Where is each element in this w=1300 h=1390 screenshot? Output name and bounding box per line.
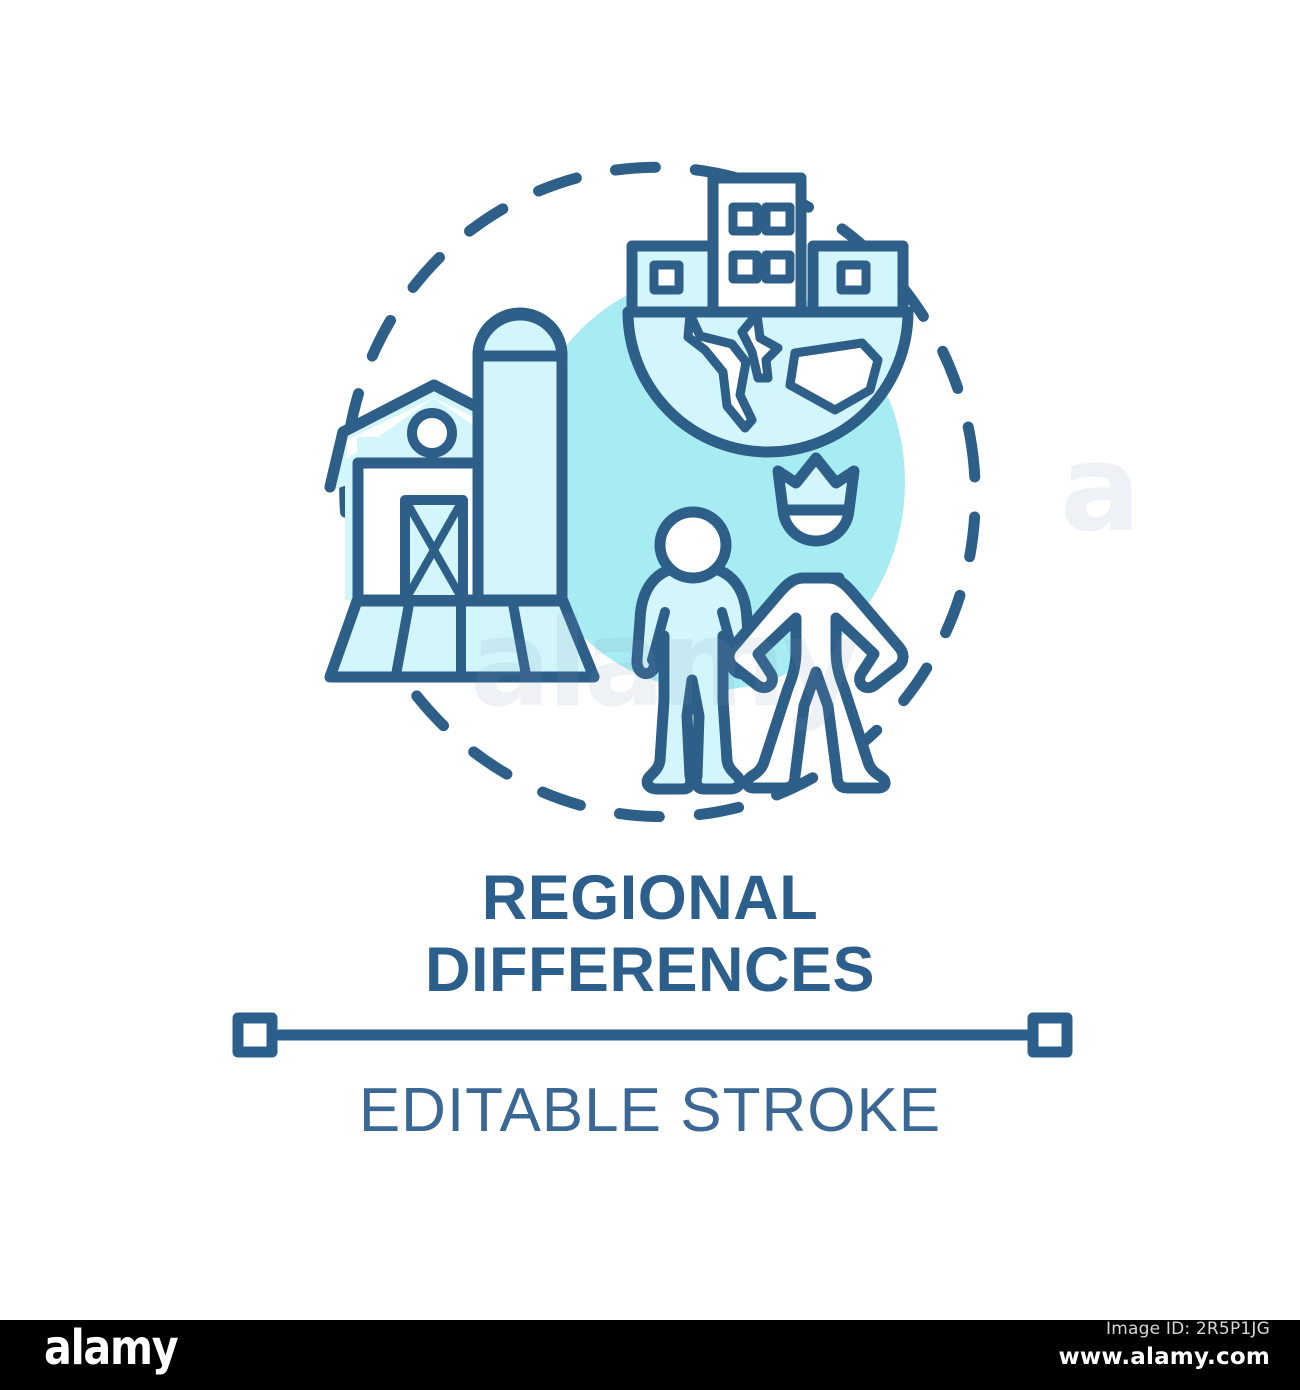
barn-round-window xyxy=(412,413,452,453)
alamy-url[interactable]: www.alamy.com xyxy=(1058,1344,1270,1370)
screenshot-canvas: alamy a REGIONAL DIFFERENCES EDITABLE ST… xyxy=(0,0,1300,1390)
person-casual-head xyxy=(660,512,726,578)
barn-group xyxy=(330,313,594,677)
divider-endpoint-left xyxy=(238,1018,272,1052)
building-center-window-2 xyxy=(766,207,790,231)
building-center-window-3 xyxy=(733,255,757,279)
image-id-label: Image ID: 2R5P1JG xyxy=(1106,1319,1270,1339)
building-center-window-1 xyxy=(733,207,757,231)
alamy-logo[interactable]: alamy xyxy=(44,1323,177,1373)
building-center-window-4 xyxy=(766,255,790,279)
divider xyxy=(0,1000,1300,1070)
silo-front xyxy=(478,355,562,600)
globe-city-group xyxy=(628,178,908,452)
building-center xyxy=(713,178,801,312)
divider-endpoint-right xyxy=(1033,1018,1067,1052)
building-right-window xyxy=(841,265,866,290)
building-left-window xyxy=(654,265,679,290)
concept-illustration xyxy=(0,0,1300,1320)
